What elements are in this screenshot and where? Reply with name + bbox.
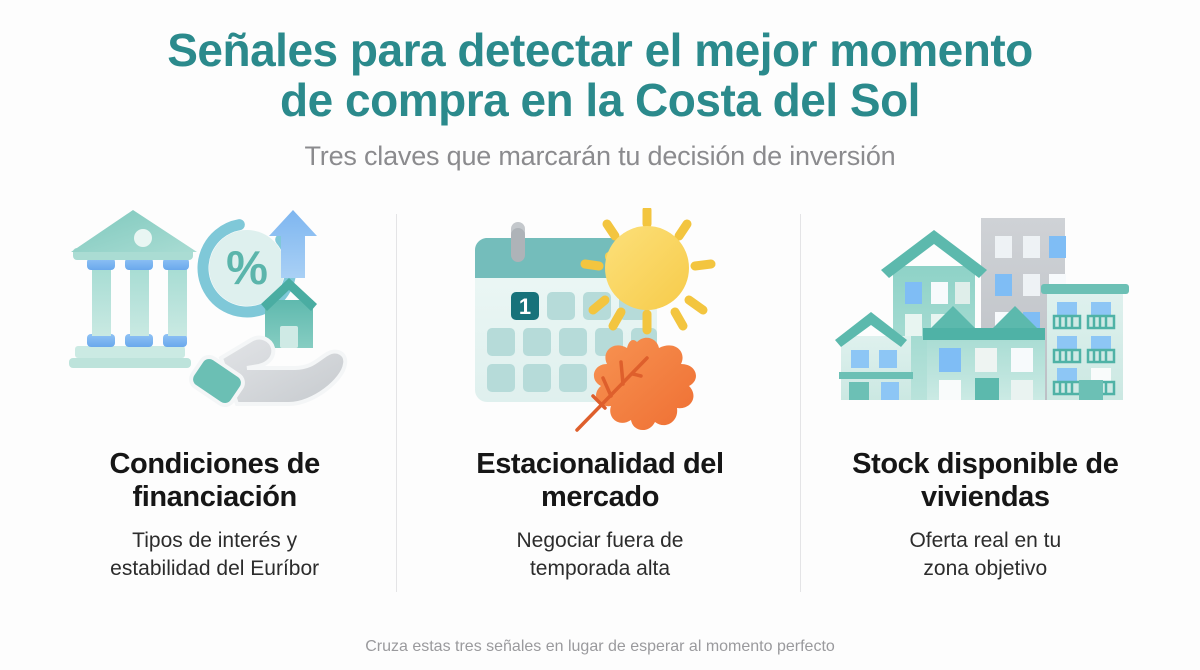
cityscape-buildings-svg — [835, 208, 1135, 444]
column-stock: Stock disponible de viviendas Oferta rea… — [793, 206, 1178, 638]
card-desc-line-2: temporada alta — [530, 557, 670, 580]
footer-note: Cruza estas tres señales en lugar de esp… — [0, 638, 1200, 670]
calendar-sun-leaf-svg: 1 — [465, 208, 735, 444]
svg-text:1: 1 — [519, 294, 531, 319]
card-title-financing: Condiciones de financiación — [50, 448, 380, 513]
page-subtitle: Tres claves que marcarán tu decisión de … — [0, 141, 1200, 172]
card-desc-line-1: Oferta real en tu — [909, 529, 1061, 552]
card-desc-stock: Oferta real en tu zona objetivo — [825, 527, 1145, 582]
card-title-seasonality: Estacionalidad del mercado — [435, 448, 765, 513]
card-desc-seasonality: Negociar fuera de temporada alta — [440, 527, 760, 582]
card-desc-line-2: estabilidad del Euríbor — [110, 557, 319, 580]
card-desc-line-2: zona objetivo — [923, 557, 1047, 580]
title-line-2: de compra en la Costa del Sol — [150, 76, 1050, 126]
column-financing: % Condiciones de financiación Tipos de i… — [22, 206, 407, 638]
cityscape-buildings-icon — [835, 206, 1135, 446]
card-desc-line-1: Negociar fuera de — [517, 529, 684, 552]
bank-percent-hand-house-icon: % — [65, 206, 365, 446]
card-desc-line-1: Tipos de interés y — [132, 529, 297, 552]
bank-percent-hand-house-svg: % — [65, 208, 365, 444]
header: Señales para detectar el mejor momento d… — [0, 0, 1200, 172]
infographic-root: Señales para detectar el mejor momento d… — [0, 0, 1200, 670]
columns-container: % Condiciones de financiación Tipos de i… — [0, 206, 1200, 638]
title-line-1: Señales para detectar el mejor momento — [150, 26, 1050, 76]
calendar-sun-leaf-icon: 1 — [465, 206, 735, 446]
column-seasonality: 1 — [407, 206, 792, 638]
card-desc-financing: Tipos de interés y estabilidad del Euríb… — [55, 527, 375, 582]
page-title: Señales para detectar el mejor momento d… — [150, 26, 1050, 125]
card-title-stock: Stock disponible de viviendas — [820, 448, 1150, 513]
svg-text:%: % — [226, 241, 268, 294]
